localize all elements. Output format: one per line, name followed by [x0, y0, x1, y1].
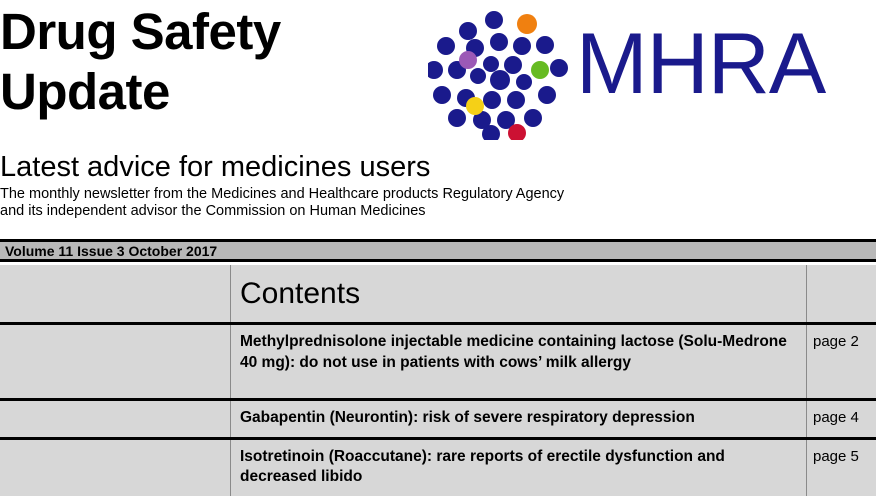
table-row[interactable]: Gabapentin (Neurontin): risk of severe r… [0, 400, 876, 439]
entry-title[interactable]: Isotretinoin (Roaccutane): rare reports … [231, 440, 806, 496]
mhra-logo: MHRA [428, 8, 876, 140]
title-block: Drug Safety Update [0, 2, 430, 122]
entry-page-number: page 4 [807, 401, 876, 428]
spacer-cell [0, 438, 231, 496]
volume-issue-date: Volume 11 Issue 3 October 2017 [0, 244, 217, 258]
contents-heading: Contents [231, 265, 806, 309]
contents-table: Contents Methylprednisolone injectable m… [0, 265, 876, 496]
entry-title-cell[interactable]: Methylprednisolone injectable medicine c… [231, 324, 807, 400]
entry-title-cell[interactable]: Isotretinoin (Roaccutane): rare reports … [231, 438, 807, 496]
page-header-cell [807, 265, 876, 324]
subtitle: The monthly newsletter from the Medicine… [0, 186, 564, 220]
contents-header-row: Contents [0, 265, 876, 324]
table-row[interactable]: Isotretinoin (Roaccutane): rare reports … [0, 438, 876, 496]
entry-title[interactable]: Methylprednisolone injectable medicine c… [231, 325, 806, 381]
spacer-cell [0, 324, 231, 400]
spacer-cell [0, 265, 231, 324]
strapline: Latest advice for medicines users [0, 150, 430, 184]
entry-page-cell: page 5 [807, 438, 876, 496]
mhra-wordmark: MHRA [576, 16, 825, 112]
contents-heading-cell: Contents [231, 265, 807, 324]
publication-title: Drug Safety Update [0, 2, 430, 122]
entry-page-number: page 2 [807, 325, 876, 352]
volume-bar: Volume 11 Issue 3 October 2017 [0, 239, 876, 262]
entry-page-cell: page 2 [807, 324, 876, 400]
masthead: Drug Safety Update [0, 0, 876, 236]
entry-page-number: page 5 [807, 440, 876, 467]
entry-title[interactable]: Gabapentin (Neurontin): risk of severe r… [231, 401, 806, 437]
spacer-cell [0, 400, 231, 439]
entry-page-cell: page 4 [807, 400, 876, 439]
mhra-dot-cluster-icon [428, 8, 573, 140]
entry-title-cell[interactable]: Gabapentin (Neurontin): risk of severe r… [231, 400, 807, 439]
table-row[interactable]: Methylprednisolone injectable medicine c… [0, 324, 876, 400]
